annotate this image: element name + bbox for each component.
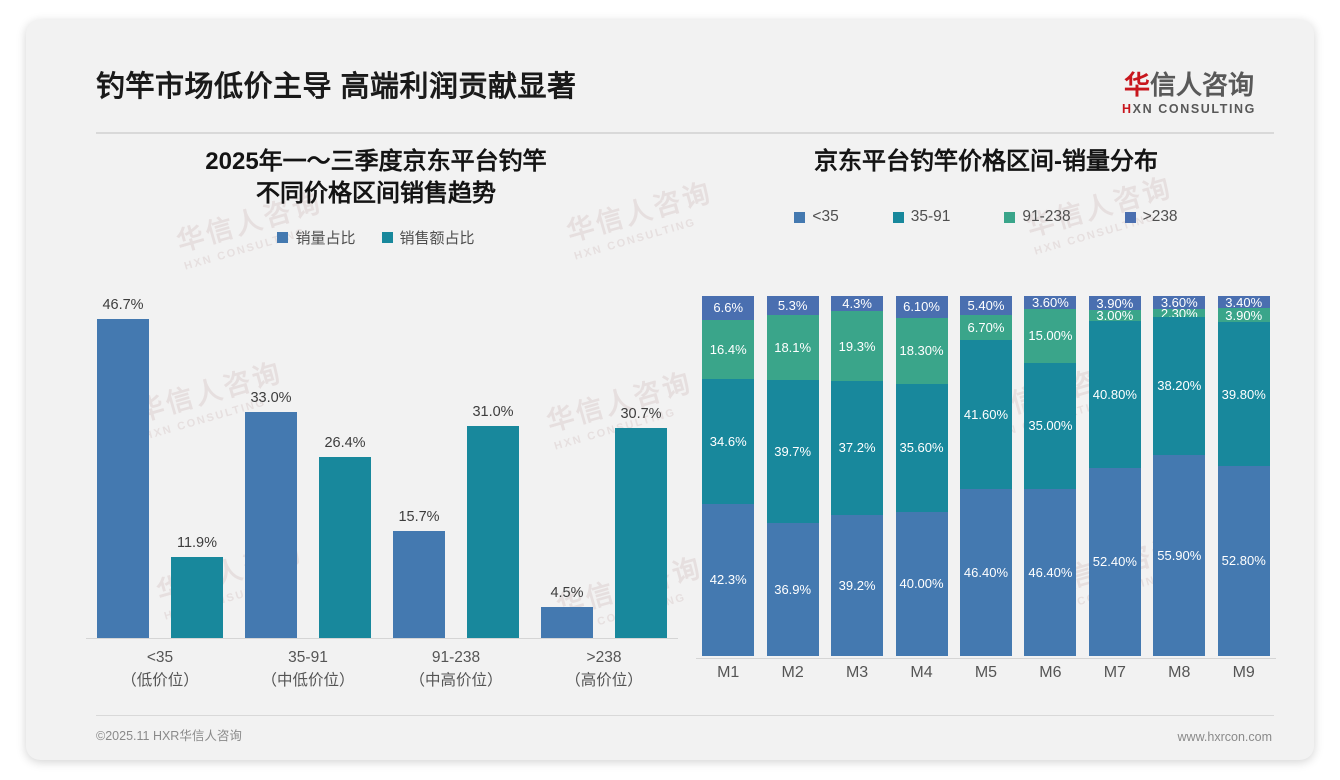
bar-column: 11.9%: [171, 296, 223, 638]
stack-segment[interactable]: 18.30%: [896, 318, 948, 384]
month-label: M8: [1147, 664, 1211, 682]
stack-segment-label: 19.3%: [839, 339, 876, 354]
stack-segment[interactable]: 39.80%: [1218, 322, 1270, 465]
legend-swatch-icon: [382, 232, 393, 243]
stack-segment[interactable]: 5.3%: [767, 296, 819, 315]
stack-segment-label: 36.9%: [774, 582, 811, 597]
stacked-bar[interactable]: 4.3%19.3%37.2%39.2%: [831, 296, 883, 656]
stack-segment[interactable]: 19.3%: [831, 311, 883, 380]
stack-segment-label: 40.00%: [899, 576, 943, 591]
stack-segment[interactable]: 3.60%: [1153, 296, 1205, 309]
stack-segment[interactable]: 3.00%: [1089, 310, 1141, 321]
bar-column: 30.7%: [615, 296, 667, 638]
bar-value-label: 11.9%: [177, 535, 217, 551]
stack-segment-label: 41.60%: [964, 407, 1008, 422]
slide-header: 钓竿市场低价主导 高端利润贡献显著 华信人咨询 HXN CONSULTING: [26, 20, 1314, 128]
month-label: M6: [1018, 664, 1082, 682]
legend-item->238[interactable]: >238: [1125, 208, 1178, 226]
month-label: M3: [825, 664, 889, 682]
stack-segment[interactable]: 18.1%: [767, 315, 819, 380]
stack-segment-label: 3.90%: [1225, 308, 1262, 322]
category-label-range: 35-91: [234, 646, 382, 669]
category-label-tier: （低价位）: [86, 669, 234, 692]
stack-segment[interactable]: 40.00%: [896, 512, 948, 656]
stacked-bar-column: 5.40%6.70%41.60%46.40%: [954, 296, 1018, 656]
left-chart-x-axis: [86, 638, 678, 639]
bar-column: 26.4%: [319, 296, 371, 638]
stack-segment[interactable]: 3.60%: [1024, 296, 1076, 309]
stack-segment[interactable]: 41.60%: [960, 340, 1012, 490]
bar-column: 31.0%: [467, 296, 519, 638]
stack-segment-label: 34.6%: [710, 434, 747, 449]
bar-group: 46.7%11.9%: [86, 296, 234, 638]
chart-panel-left: 2025年一～三季度京东平台钓竿 不同价格区间销售趋势 销量占比 销售额占比 4…: [66, 146, 686, 706]
chart-panel-right: 京东平台钓竿价格区间-销量分布 <3535-9191-238>238 6.6%1…: [686, 146, 1286, 706]
logo-chars-rest: 信人咨询: [1150, 70, 1254, 100]
stack-segment[interactable]: 42.3%: [702, 504, 754, 656]
stack-segment[interactable]: 35.00%: [1024, 363, 1076, 489]
stack-segment-label: 6.6%: [713, 300, 743, 315]
stack-segment-label: 39.80%: [1222, 387, 1266, 402]
stacked-bar[interactable]: 5.3%18.1%39.7%36.9%: [767, 296, 819, 656]
legend-item-sales-amount[interactable]: 销售额占比: [382, 227, 475, 248]
category-label: 91-238（中高价位）: [382, 646, 530, 693]
page-title: 钓竿市场低价主导 高端利润贡献显著: [96, 63, 577, 105]
bar-column: 4.5%: [541, 296, 593, 638]
month-label: M9: [1212, 664, 1276, 682]
month-label: M7: [1083, 664, 1147, 682]
category-label: <35（低价位）: [86, 646, 234, 693]
left-chart-title: 2025年一～三季度京东平台钓竿 不同价格区间销售趋势: [66, 146, 686, 211]
bar[interactable]: [467, 426, 519, 638]
bar-value-label: 33.0%: [250, 390, 291, 406]
logo-english-text: HXN CONSULTING: [1106, 102, 1272, 116]
bar[interactable]: [245, 412, 297, 638]
stack-segment-label: 46.40%: [964, 565, 1008, 580]
logo-chinese-text: 华信人咨询: [1106, 72, 1272, 99]
bar-column: 33.0%: [245, 296, 297, 638]
stack-segment-label: 3.40%: [1225, 296, 1262, 308]
bar-value-label: 4.5%: [550, 585, 583, 601]
stack-segment-label: 3.00%: [1096, 310, 1133, 321]
bar-column: 46.7%: [97, 296, 149, 638]
legend-label: 销量占比: [295, 227, 355, 248]
bar-value-label: 30.7%: [620, 406, 661, 422]
logo-en-h: H: [1122, 102, 1133, 116]
stack-segment-label: 52.80%: [1222, 553, 1266, 568]
stack-segment-label: 16.4%: [710, 342, 747, 357]
right-chart-month-labels: M1M2M3M4M5M6M7M8M9: [696, 664, 1276, 682]
stack-segment[interactable]: 39.2%: [831, 515, 883, 656]
footer-website[interactable]: www.hxrcon.com: [1178, 730, 1272, 744]
stacked-bar-column: 4.3%19.3%37.2%39.2%: [825, 296, 889, 656]
stack-segment-label: 3.60%: [1032, 296, 1069, 309]
stack-segment-label: 3.60%: [1161, 296, 1198, 309]
stack-segment[interactable]: 52.40%: [1089, 468, 1141, 656]
stack-segment[interactable]: 6.70%: [960, 315, 1012, 339]
stack-segment-label: 35.60%: [899, 440, 943, 455]
stack-segment-label: 42.3%: [710, 572, 747, 587]
stack-segment[interactable]: 55.90%: [1153, 455, 1205, 656]
stack-segment-label: 39.7%: [774, 444, 811, 459]
month-label: M5: [954, 664, 1018, 682]
category-label-tier: （中低价位）: [234, 669, 382, 692]
legend-label: 35-91: [911, 208, 951, 226]
stacked-bar[interactable]: 3.60%2.30%38.20%55.90%: [1153, 296, 1205, 656]
bar-group: 15.7%31.0%: [382, 296, 530, 638]
left-chart-legend: 销量占比 销售额占比: [66, 227, 686, 248]
footer-divider: [96, 715, 1274, 716]
category-label-range: <35: [86, 646, 234, 669]
bar-value-label: 26.4%: [324, 435, 365, 451]
category-label-range: >238: [530, 646, 678, 669]
logo-char-hua: 华: [1124, 70, 1150, 100]
stacked-bar[interactable]: 3.90%3.00%40.80%52.40%: [1089, 296, 1141, 656]
stack-segment-label: 4.3%: [842, 296, 872, 311]
legend-item-<35[interactable]: <35: [794, 208, 838, 226]
company-logo: 华信人咨询 HXN CONSULTING: [1106, 72, 1272, 116]
stacked-bar-column: 5.3%18.1%39.7%36.9%: [760, 296, 824, 656]
stacked-bar-column: 3.60%15.00%35.00%46.40%: [1018, 296, 1082, 656]
bar-column: 15.7%: [393, 296, 445, 638]
stacked-bar[interactable]: 6.10%18.30%35.60%40.00%: [896, 296, 948, 656]
stack-segment-label: 38.20%: [1157, 378, 1201, 393]
bar[interactable]: [393, 531, 445, 638]
stacked-bar[interactable]: 6.6%16.4%34.6%42.3%: [702, 296, 754, 656]
bar[interactable]: [97, 319, 149, 638]
stack-segment[interactable]: 3.90%: [1218, 308, 1270, 322]
legend-label: <35: [812, 208, 838, 226]
month-label: M1: [696, 664, 760, 682]
stack-segment-label: 35.00%: [1028, 418, 1072, 433]
bar[interactable]: [615, 428, 667, 638]
stack-segment[interactable]: 37.2%: [831, 381, 883, 515]
stack-segment[interactable]: 16.4%: [702, 320, 754, 379]
stacked-bar-column: 6.6%16.4%34.6%42.3%: [696, 296, 760, 656]
stack-segment-label: 3.90%: [1096, 296, 1133, 310]
left-chart-category-labels: <35（低价位）35-91（中低价位）91-238（中高价位）>238（高价位）: [86, 646, 678, 693]
stack-segment[interactable]: 39.7%: [767, 380, 819, 523]
legend-swatch-icon: [1004, 212, 1015, 223]
header-divider: [96, 132, 1274, 134]
bar-value-label: 15.7%: [398, 509, 439, 525]
bar-value-label: 31.0%: [472, 404, 513, 420]
stack-segment[interactable]: 2.30%: [1153, 309, 1205, 317]
legend-swatch-icon: [277, 232, 288, 243]
stack-segment-label: 18.30%: [899, 343, 943, 358]
stacked-bar-columns: 6.6%16.4%34.6%42.3%5.3%18.1%39.7%36.9%4.…: [696, 296, 1276, 656]
stacked-bar-column: 3.90%3.00%40.80%52.40%: [1083, 296, 1147, 656]
stack-segment-label: 37.2%: [839, 440, 876, 455]
stack-segment-label: 5.3%: [778, 298, 808, 313]
stack-segment[interactable]: 46.40%: [960, 489, 1012, 656]
stack-segment-label: 5.40%: [968, 298, 1005, 313]
right-chart-title: 京东平台钓竿价格区间-销量分布: [686, 146, 1286, 178]
bar[interactable]: [541, 607, 593, 638]
left-chart-plot-area: 46.7%11.9%33.0%26.4%15.7%31.0%4.5%30.7%: [86, 296, 678, 638]
stack-segment-label: 40.80%: [1093, 387, 1137, 402]
stack-segment-label: 52.40%: [1093, 554, 1137, 569]
footer-copyright: ©2025.11 HXR华信人咨询: [96, 725, 242, 744]
stack-segment[interactable]: 46.40%: [1024, 489, 1076, 656]
legend-label: 91-238: [1022, 208, 1070, 226]
category-label: 35-91（中低价位）: [234, 646, 382, 693]
bar-value-label: 46.7%: [102, 297, 143, 313]
stack-segment[interactable]: 40.80%: [1089, 321, 1141, 468]
legend-item-91-238[interactable]: 91-238: [1004, 208, 1070, 226]
right-chart-plot-area: 6.6%16.4%34.6%42.3%5.3%18.1%39.7%36.9%4.…: [696, 296, 1276, 656]
category-label-tier: （中高价位）: [382, 669, 530, 692]
stack-segment-label: 46.40%: [1028, 565, 1072, 580]
category-label-tier: （高价位）: [530, 669, 678, 692]
stack-segment-label: 6.70%: [968, 320, 1005, 335]
stack-segment[interactable]: 5.40%: [960, 296, 1012, 315]
stacked-bar[interactable]: 3.60%15.00%35.00%46.40%: [1024, 296, 1076, 656]
right-chart-x-axis: [696, 658, 1276, 659]
legend-item-35-91[interactable]: 35-91: [893, 208, 951, 226]
bar-group: 33.0%26.4%: [234, 296, 382, 638]
logo-en-rest: XN CONSULTING: [1133, 102, 1256, 116]
stack-segment[interactable]: 38.20%: [1153, 317, 1205, 455]
stacked-bar-column: 6.10%18.30%35.60%40.00%: [889, 296, 953, 656]
stack-segment-label: 39.2%: [839, 578, 876, 593]
category-label: >238（高价位）: [530, 646, 678, 693]
stack-segment-label: 55.90%: [1157, 548, 1201, 563]
bar-group: 4.5%30.7%: [530, 296, 678, 638]
legend-label: 销售额占比: [400, 227, 475, 248]
stack-segment[interactable]: 4.3%: [831, 296, 883, 311]
stack-segment[interactable]: 52.80%: [1218, 466, 1270, 656]
stack-segment[interactable]: 36.9%: [767, 523, 819, 656]
stack-segment-label: 15.00%: [1028, 328, 1072, 343]
stack-segment-label: 2.30%: [1161, 309, 1198, 317]
stack-segment[interactable]: 3.90%: [1089, 296, 1141, 310]
stack-segment[interactable]: 3.40%: [1218, 296, 1270, 308]
legend-label: >238: [1143, 208, 1178, 226]
stack-segment-label: 18.1%: [774, 340, 811, 355]
month-label: M2: [760, 664, 824, 682]
stacked-bar-column: 3.60%2.30%38.20%55.90%: [1147, 296, 1211, 656]
legend-swatch-icon: [1125, 212, 1136, 223]
left-chart-title-line1: 2025年一～三季度京东平台钓竿: [66, 146, 686, 178]
stack-segment[interactable]: 6.10%: [896, 296, 948, 318]
right-chart-legend: <3535-9191-238>238: [686, 208, 1286, 226]
stack-segment-label: 6.10%: [903, 299, 940, 314]
bar[interactable]: [171, 557, 223, 638]
stacked-bar[interactable]: 5.40%6.70%41.60%46.40%: [960, 296, 1012, 656]
bar[interactable]: [319, 457, 371, 638]
stack-segment[interactable]: 34.6%: [702, 379, 754, 504]
stack-segment[interactable]: 35.60%: [896, 384, 948, 512]
legend-swatch-icon: [794, 212, 805, 223]
stacked-bar[interactable]: 3.40%3.90%39.80%52.80%: [1218, 296, 1270, 656]
legend-swatch-icon: [893, 212, 904, 223]
category-label-range: 91-238: [382, 646, 530, 669]
stack-segment[interactable]: 15.00%: [1024, 309, 1076, 363]
bar-groups: 46.7%11.9%33.0%26.4%15.7%31.0%4.5%30.7%: [86, 296, 678, 638]
legend-item-sales-volume[interactable]: 销量占比: [277, 227, 355, 248]
slide-canvas: 华信人咨询 HXN CONSULTING 华信人咨询 HXN CONSULTIN…: [26, 20, 1314, 760]
stacked-bar-column: 3.40%3.90%39.80%52.80%: [1212, 296, 1276, 656]
month-label: M4: [889, 664, 953, 682]
left-chart-title-line2: 不同价格区间销售趋势: [66, 178, 686, 210]
stack-segment[interactable]: 6.6%: [702, 296, 754, 320]
